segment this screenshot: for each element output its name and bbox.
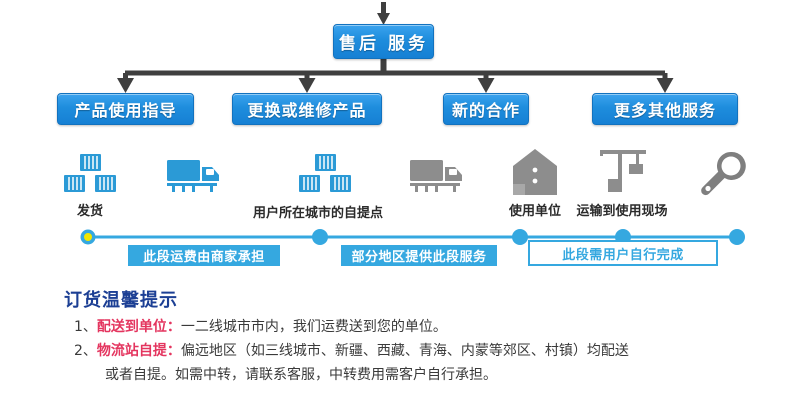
step-transport-to-site: 运输到使用现场: [592, 148, 652, 219]
step-installation: [695, 150, 751, 196]
note-2-body-continued: 或者自提。如需中转，请联系客服，中转费用需客户自行承担。: [105, 367, 497, 383]
segment-partial-area-service[interactable]: 部分地区提供此段服务: [341, 245, 497, 266]
note-item-1: 1、配送到单位：一二线城市市内，我们运费送到您的单位。: [74, 318, 447, 336]
after-sales-service-infographic: 售后 服务 产品使用指导 更换或维修产品 新的合作 更多其他服务 发货: [0, 0, 790, 412]
segment-user-self-completed[interactable]: 此段需用户自行完成: [528, 240, 718, 266]
crane-icon: [594, 148, 650, 196]
note-1-body: 一二线城市市内，我们运费送到您的单位。: [181, 319, 447, 335]
node-new-cooperation[interactable]: 新的合作: [443, 93, 529, 125]
step-transfer-truck: [408, 156, 468, 194]
node-after-sales-service[interactable]: 售后 服务: [333, 24, 434, 59]
node-replace-or-repair-product[interactable]: 更换或维修产品: [232, 93, 382, 125]
node-more-other-services[interactable]: 更多其他服务: [592, 93, 738, 125]
delivery-truck-icon: [166, 156, 224, 194]
note-1-key: 配送到单位：: [97, 319, 181, 335]
note-2-number: 2、: [74, 343, 97, 359]
note-item-2: 2、物流站自提：偏远地区（如三线城市、新疆、西藏、青海、内蒙等郊区、村镇）均配送: [74, 342, 629, 360]
step-pickup-point: [295, 152, 355, 196]
wrench-icon: [699, 150, 747, 196]
note-1-number: 1、: [74, 319, 97, 335]
user-building-icon: [511, 148, 559, 196]
step-delivery-truck: [165, 156, 225, 198]
step-shipping: 发货: [60, 152, 120, 219]
step-user-unit: 使用单位: [505, 148, 565, 219]
notes-title: 订货温馨提示: [64, 286, 178, 312]
transfer-truck-icon: [409, 156, 467, 194]
segment-merchant-pays-freight[interactable]: 此段运费由商家承担: [128, 245, 280, 266]
pickup-containers-icon: [297, 152, 353, 196]
note-2-key: 物流站自提：: [97, 343, 181, 359]
note-item-2-continued: 或者自提。如需中转，请联系客服，中转费用需客户自行承担。: [105, 366, 497, 384]
shipping-containers-icon: [62, 152, 118, 196]
note-2-body: 偏远地区（如三线城市、新疆、西藏、青海、内蒙等郊区、村镇）均配送: [181, 343, 629, 359]
node-product-usage-guide[interactable]: 产品使用指导: [57, 93, 194, 125]
